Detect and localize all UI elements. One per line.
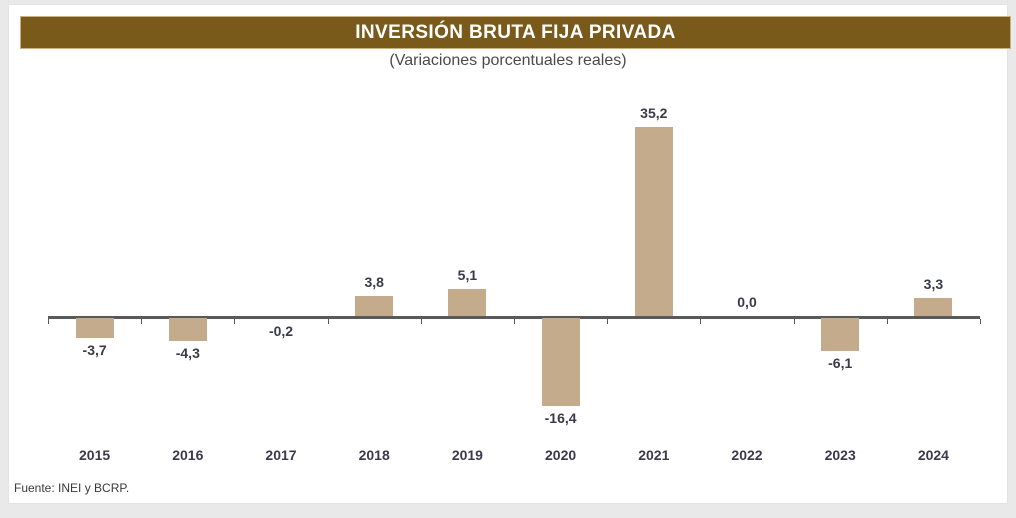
bar-2015 [76, 318, 114, 338]
bar-2018 [355, 296, 393, 316]
value-label-2016: -4,3 [148, 345, 228, 361]
axis-tick [980, 319, 981, 324]
bar-2019 [448, 289, 486, 316]
bar-2020 [542, 318, 580, 406]
axis-tick [141, 319, 142, 324]
bar-chart-plot: -3,7-4,3-0,23,85,1-16,435,20,0-6,13,3 20… [0, 0, 1016, 518]
bottom-strip [8, 504, 732, 518]
value-label-2021: 35,2 [614, 105, 694, 121]
axis-tick [607, 319, 608, 324]
bar-2024 [914, 298, 952, 316]
bar-2023 [821, 318, 859, 351]
value-label-2020: -16,4 [521, 410, 601, 426]
bar-2016 [169, 318, 207, 341]
value-label-2015: -3,7 [55, 342, 135, 358]
value-label-2017: -0,2 [241, 323, 321, 339]
category-label-2019: 2019 [427, 447, 507, 463]
axis-tick [794, 319, 795, 324]
category-label-2016: 2016 [148, 447, 228, 463]
value-label-2019: 5,1 [427, 267, 507, 283]
axis-tick [48, 319, 49, 324]
bar-2021 [635, 127, 673, 316]
source-note: Fuente: INEI y BCRP. [14, 481, 129, 495]
category-label-2023: 2023 [800, 447, 880, 463]
axis-tick [328, 319, 329, 324]
axis-tick [421, 319, 422, 324]
category-label-2021: 2021 [614, 447, 694, 463]
value-label-2018: 3,8 [334, 274, 414, 290]
axis-tick [234, 319, 235, 324]
value-label-2022: 0,0 [707, 294, 787, 310]
value-label-2024: 3,3 [893, 276, 973, 292]
value-label-2023: -6,1 [800, 355, 880, 371]
category-label-2022: 2022 [707, 447, 787, 463]
category-label-2017: 2017 [241, 447, 321, 463]
axis-tick [700, 319, 701, 324]
category-label-2020: 2020 [521, 447, 601, 463]
axis-tick [514, 319, 515, 324]
axis-tick [887, 319, 888, 324]
category-label-2018: 2018 [334, 447, 414, 463]
category-label-2015: 2015 [55, 447, 135, 463]
category-label-2024: 2024 [893, 447, 973, 463]
